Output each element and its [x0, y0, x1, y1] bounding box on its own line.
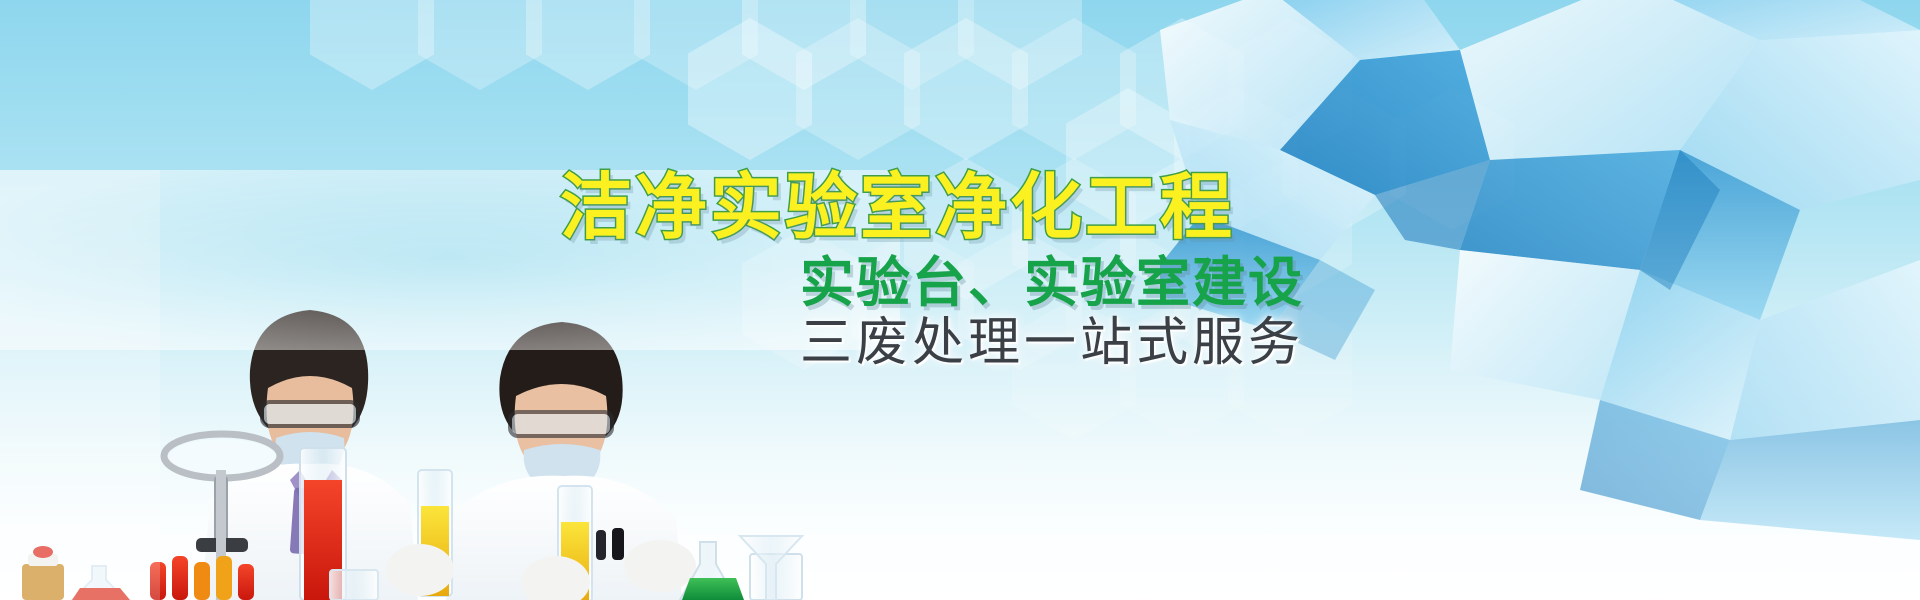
headline-tagline: 三废处理一站式服务	[800, 300, 1304, 375]
headline-block: 洁净实验室净化工程 实验台、实验室建设 三废处理一站式服务	[0, 0, 1920, 600]
promo-banner: 洁净实验室净化工程 实验台、实验室建设 三废处理一站式服务	[0, 0, 1920, 600]
